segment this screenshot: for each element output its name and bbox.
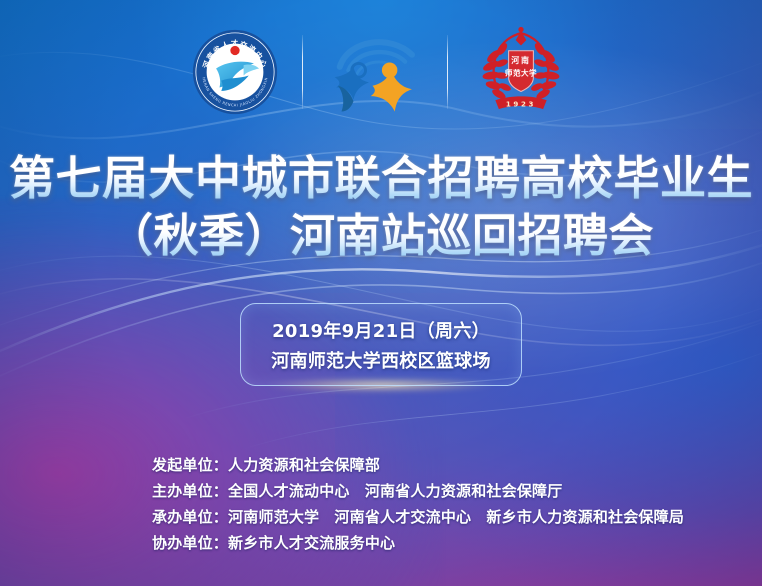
henan-normal-university-logo: 河南 师范大学 1923	[472, 26, 570, 118]
organizer-label: 协办单位：	[152, 534, 228, 552]
organizer-label: 承办单位：	[152, 508, 228, 526]
organizer-value: 新乡市人才交流服务中心	[228, 534, 395, 552]
organizer-value: 全国人才流动中心 河南省人力资源和社会保障厅	[228, 482, 562, 500]
organizer-row: 协办单位：新乡市人才交流服务中心	[152, 530, 684, 556]
organizer-row: 发起单位：人力资源和社会保障部	[152, 452, 684, 478]
organizer-row: 主办单位：全国人才流动中心 河南省人力资源和社会保障厅	[152, 478, 684, 504]
logo-divider	[447, 35, 448, 109]
svg-text:师范大学: 师范大学	[505, 68, 537, 78]
svg-text:河南: 河南	[511, 55, 530, 65]
organizers-block: 发起单位：人力资源和社会保障部 主办单位：全国人才流动中心 河南省人力资源和社会…	[152, 452, 684, 556]
recruitment-poster: 河南省人才交流中心 HENAN SHENG RENCAI JIAOLIU ZHO…	[0, 0, 762, 586]
organizer-value: 人力资源和社会保障部	[228, 456, 380, 474]
event-date: 2019年9月21日（周六）	[272, 317, 490, 343]
organizer-label: 发起单位：	[152, 456, 228, 474]
event-venue: 河南师范大学西校区篮球场	[271, 347, 491, 373]
organizer-value: 河南师范大学 河南省人才交流中心 新乡市人力资源和社会保障局	[228, 508, 684, 526]
henan-talent-exchange-center-logo: 河南省人才交流中心 HENAN SHENG RENCAI JIAOLIU ZHO…	[192, 29, 278, 115]
joint-recruitment-figures-logo	[327, 29, 423, 115]
organizer-label: 主办单位：	[152, 482, 228, 500]
organizer-row: 承办单位：河南师范大学 河南省人才交流中心 新乡市人力资源和社会保障局	[152, 504, 684, 530]
poster-title: 第七届大中城市联合招聘高校毕业生 （秋季）河南站巡回招聘会	[0, 150, 762, 264]
title-line-1: 第七届大中城市联合招聘高校毕业生	[0, 150, 762, 207]
svg-text:1923: 1923	[506, 100, 536, 109]
logo-divider	[302, 35, 303, 109]
event-info-box: 2019年9月21日（周六） 河南师范大学西校区篮球场	[240, 303, 522, 386]
title-line-2: （秋季）河南站巡回招聘会	[0, 207, 762, 264]
logo-row: 河南省人才交流中心 HENAN SHENG RENCAI JIAOLIU ZHO…	[0, 26, 762, 118]
